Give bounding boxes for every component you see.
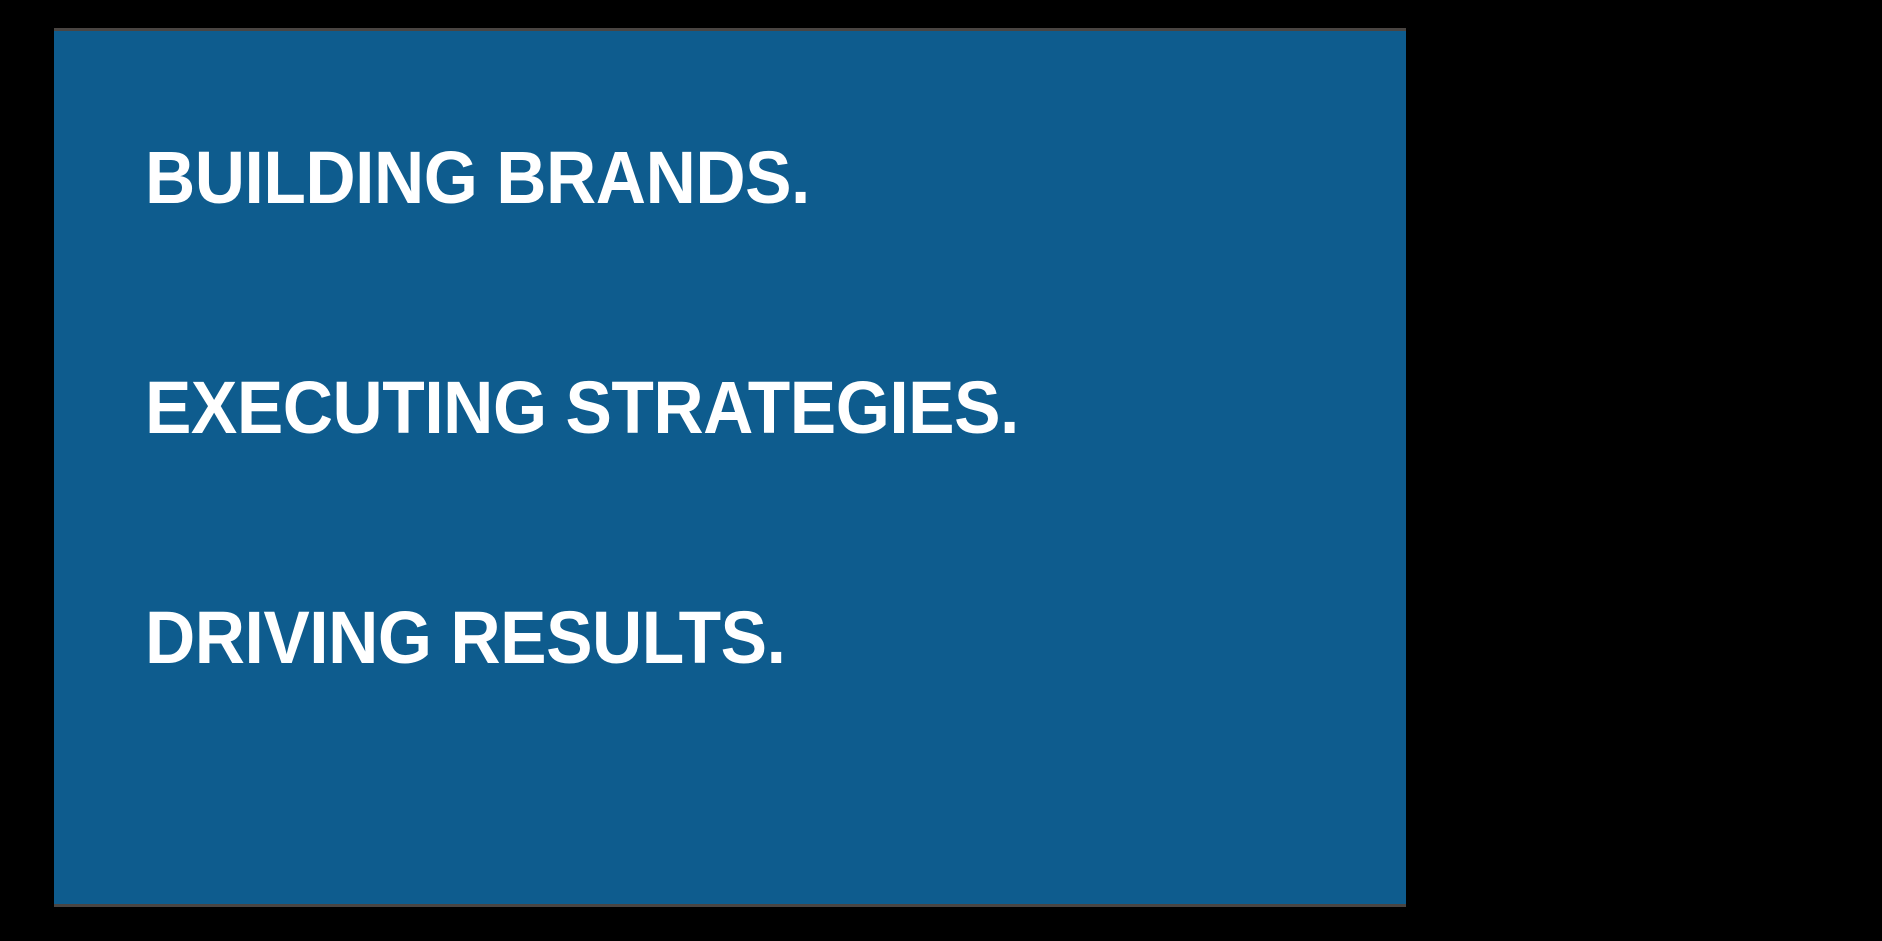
headline-line-1: BUILDING BRANDS. [145,141,1273,215]
headline-line-2: EXECUTING STRATEGIES. [145,371,1273,445]
slide-panel: BUILDING BRANDS. EXECUTING STRATEGIES. D… [54,31,1406,904]
headline-line-3: DRIVING RESULTS. [145,601,1273,675]
presentation-canvas: BUILDING BRANDS. EXECUTING STRATEGIES. D… [0,0,1882,941]
headline-block: BUILDING BRANDS. EXECUTING STRATEGIES. D… [145,141,1345,675]
